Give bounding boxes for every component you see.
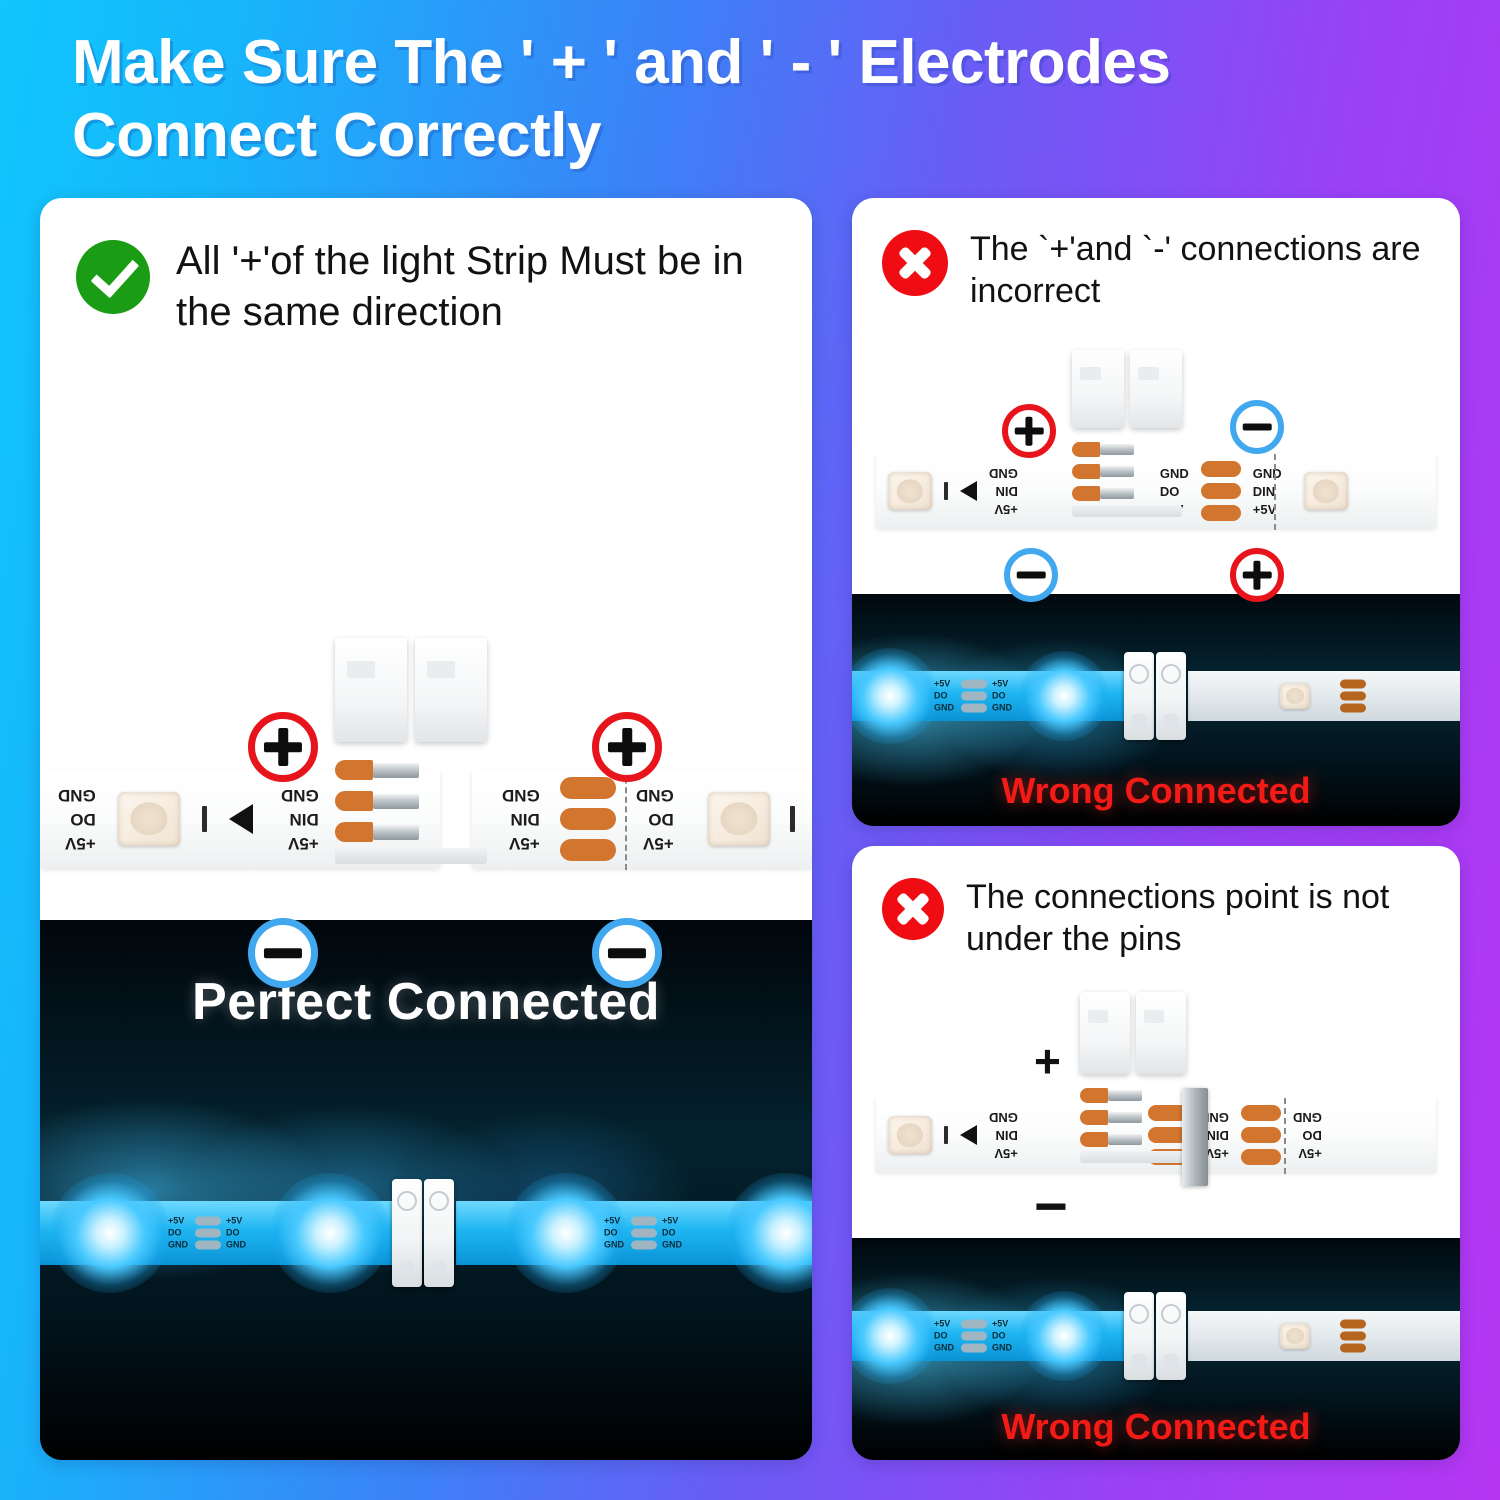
contact-row bbox=[335, 760, 487, 780]
plus-icon bbox=[1236, 554, 1278, 596]
contact-metal bbox=[1108, 1134, 1142, 1145]
contact-row bbox=[1072, 464, 1182, 479]
connector-contacts bbox=[1072, 442, 1182, 501]
copper-pad bbox=[560, 808, 616, 830]
pin-label: GND bbox=[604, 1241, 626, 1250]
pin-label: +5V bbox=[992, 1319, 1014, 1328]
wrong-polarity-heading: The `+'and `-' connections are incorrect bbox=[970, 228, 1438, 312]
alignment-tick bbox=[625, 768, 627, 870]
pin-label: +5V bbox=[989, 1147, 1018, 1160]
strip-segment-right: +5V DIN GND +5V DO GND bbox=[472, 770, 812, 868]
connector-base bbox=[335, 848, 487, 864]
x-glyph bbox=[893, 889, 933, 929]
connector-clip[interactable] bbox=[392, 1179, 422, 1287]
pin-label: DO bbox=[992, 692, 1014, 701]
connector-clip[interactable] bbox=[415, 638, 487, 742]
pin-label: +5V bbox=[934, 1319, 956, 1328]
connector-contacts bbox=[335, 760, 487, 842]
pin-label: +5V bbox=[1293, 1147, 1322, 1160]
pin-label: GND bbox=[226, 1241, 248, 1250]
led-chip bbox=[118, 792, 180, 846]
contact-row bbox=[1080, 1110, 1188, 1125]
photo-led-strip: +5V+5V DODO GNDGND +5V+5V DODO GNDGND bbox=[852, 1311, 1460, 1361]
strip-left-labels: +5V DIN GND bbox=[989, 1111, 1018, 1160]
misaligned-contact-bar bbox=[1182, 1088, 1208, 1186]
copper-pads bbox=[1201, 461, 1241, 521]
plus-icon bbox=[255, 719, 311, 775]
photo-connector-clip-pair[interactable] bbox=[392, 1179, 456, 1287]
pad bbox=[631, 1241, 657, 1250]
contact-pad bbox=[335, 791, 373, 811]
connector-contacts bbox=[1080, 1088, 1188, 1147]
polarity-marker-minus bbox=[1230, 400, 1284, 454]
strip-right-outer-labels: GND DIN +5V bbox=[1253, 467, 1282, 516]
strip-left-labels: +5V DIN GND bbox=[989, 467, 1018, 516]
pin-label: GND bbox=[992, 704, 1014, 713]
pin-label: GND bbox=[168, 1241, 190, 1250]
contact-row bbox=[1080, 1088, 1188, 1103]
alignment-tick bbox=[1284, 1098, 1286, 1174]
pin-label: GND bbox=[992, 1343, 1014, 1352]
polarity-marker-minus: − bbox=[1034, 1178, 1068, 1236]
strip-right-outer-labels: +5V DO GND bbox=[636, 787, 674, 852]
photo-pin-labels: +5V+5V DODO GNDGND bbox=[1340, 1319, 1366, 1352]
strip-connector bbox=[1072, 350, 1182, 517]
pin-label: GND bbox=[1253, 467, 1282, 480]
wrong-polarity-header: The `+'and `-' connections are incorrect bbox=[852, 198, 1460, 312]
pad bbox=[631, 1229, 657, 1238]
connector-clip[interactable] bbox=[1156, 652, 1186, 740]
strip-lit-segment: +5V+5V DODO GNDGND bbox=[852, 671, 1124, 721]
pin-label: DO bbox=[604, 1229, 626, 1238]
pin-label: DO bbox=[168, 1229, 190, 1238]
connector-clip[interactable] bbox=[1136, 992, 1186, 1074]
contact-pad bbox=[1080, 1110, 1108, 1125]
wrong-connected-label: Wrong Connected bbox=[852, 1406, 1460, 1448]
page-title-line-2: Connect Correctly bbox=[72, 99, 1432, 172]
strip-unlit-segment: +5V+5V DODO GNDGND bbox=[1188, 671, 1460, 721]
polarity-marker-plus bbox=[248, 712, 318, 782]
strip-lit-segment: +5V+5V DODO GNDGND bbox=[852, 1311, 1124, 1361]
pin-label: +5V bbox=[281, 835, 319, 852]
pin-label: GND bbox=[1293, 1111, 1322, 1124]
wrong-connected-label: Wrong Connected bbox=[852, 770, 1460, 812]
led-chip bbox=[1280, 683, 1310, 709]
polarity-marker-minus bbox=[592, 918, 662, 988]
pin-label: DIN bbox=[281, 811, 319, 828]
direction-arrow-icon bbox=[960, 481, 977, 501]
contact-metal bbox=[1108, 1112, 1142, 1123]
wrong-pins-diagram: +5V DIN GND +5V DIN GND +5V bbox=[852, 1002, 1460, 1238]
copper-pad bbox=[1201, 461, 1241, 477]
photo-connector-clip-pair[interactable] bbox=[1124, 652, 1188, 740]
pad bbox=[195, 1217, 221, 1226]
strip-lit-segment: +5V+5V DODO GNDGND bbox=[456, 1201, 812, 1265]
pad bbox=[195, 1229, 221, 1238]
polarity-marker-minus bbox=[1004, 548, 1058, 602]
connector-clip[interactable] bbox=[424, 1179, 454, 1287]
strip-unlit-segment: +5V+5V DODO GNDGND bbox=[1188, 1311, 1460, 1361]
photo-pin-labels: +5V+5V DODO GNDGND bbox=[934, 680, 1014, 713]
copper-pad bbox=[1201, 505, 1241, 521]
strip-left-outer-labels: +5V DO GND bbox=[58, 787, 96, 852]
contact-row bbox=[1072, 442, 1182, 457]
copper-pads bbox=[560, 777, 616, 861]
red-x-icon bbox=[882, 878, 944, 940]
minus-icon bbox=[255, 925, 311, 981]
pin-label: DO bbox=[992, 1331, 1014, 1340]
page-title-line-1: Make Sure The ' + ' and ' - ' Electrodes bbox=[72, 26, 1432, 99]
pin-label: +5V bbox=[1253, 503, 1282, 516]
photo-led-strip: +5V+5V DODO GNDGND +5V+5V DODO GNDGND bbox=[852, 671, 1460, 721]
panel-wrong-polarity: The `+'and `-' connections are incorrect… bbox=[852, 198, 1460, 826]
connector-clip[interactable] bbox=[1080, 992, 1130, 1074]
contact-row bbox=[1072, 486, 1182, 501]
pad bbox=[195, 1241, 221, 1250]
pin-label: DO bbox=[58, 811, 96, 828]
direction-arrow-icon bbox=[960, 1125, 977, 1145]
copper-pad bbox=[560, 777, 616, 799]
connector-clip-pair bbox=[335, 638, 487, 742]
pad bbox=[1340, 680, 1366, 689]
pad bbox=[1340, 704, 1366, 713]
panel-wrong-pin-placement: The connections point is not under the p… bbox=[852, 846, 1460, 1460]
contact-pad bbox=[1072, 442, 1100, 457]
pad bbox=[631, 1217, 657, 1226]
pin-label: DIN bbox=[502, 811, 540, 828]
pad bbox=[961, 704, 987, 713]
strip-right-inner-labels: +5V DIN GND bbox=[502, 787, 540, 852]
copper-pad bbox=[1241, 1149, 1281, 1165]
wrong-polarity-diagram: +5V DIN GND GND DO +5V GND DIN +5V bbox=[852, 358, 1460, 594]
wrong-pins-photo-area: Wrong Connected +5V+5V DODO GNDGND +5V+5… bbox=[852, 1238, 1460, 1460]
pad bbox=[1340, 1331, 1366, 1340]
strip-right-outer-labels: +5V DO GND bbox=[1293, 1111, 1322, 1160]
plus-icon bbox=[1008, 410, 1050, 452]
contact-row bbox=[1080, 1132, 1188, 1147]
contact-metal bbox=[373, 825, 419, 840]
wrong-pins-header: The connections point is not under the p… bbox=[852, 846, 1460, 960]
pin-label: GND bbox=[58, 787, 96, 804]
pin-label: GND bbox=[662, 1241, 684, 1250]
connector-clip[interactable] bbox=[1072, 350, 1124, 428]
connector-base bbox=[1072, 505, 1182, 517]
pad bbox=[961, 1343, 987, 1352]
led-chip bbox=[1280, 1323, 1310, 1349]
pin-label: GND bbox=[636, 787, 674, 804]
copper-pads bbox=[1241, 1105, 1281, 1165]
contact-metal bbox=[1100, 444, 1134, 455]
pin-label: +5V bbox=[989, 503, 1018, 516]
led-polarity-tick bbox=[944, 1126, 948, 1144]
pin-label: DO bbox=[934, 692, 956, 701]
pin-label: DIN bbox=[989, 1129, 1018, 1142]
pin-label: GND bbox=[934, 1343, 956, 1352]
photo-led-strip: +5V+5V DODO GNDGND +5V+5V DODO GNDGND bbox=[40, 1201, 812, 1265]
photo-connector-clip-pair[interactable] bbox=[1124, 1292, 1188, 1380]
pad bbox=[961, 680, 987, 689]
pin-label: DO bbox=[934, 1331, 956, 1340]
polarity-marker-plus: + bbox=[1034, 1038, 1061, 1084]
copper-pad bbox=[560, 839, 616, 861]
correct-panel-heading: All '+'of the light Strip Must be in the… bbox=[176, 236, 782, 338]
pin-label: +5V bbox=[502, 835, 540, 852]
pin-label: DO bbox=[636, 811, 674, 828]
led-chip bbox=[1304, 472, 1348, 510]
photo-pin-labels: +5V+5V DODO GNDGND bbox=[168, 1217, 248, 1250]
strip-lit-segment: +5V+5V DODO GNDGND bbox=[40, 1201, 392, 1265]
contact-pad bbox=[335, 822, 373, 842]
contact-pad bbox=[1072, 486, 1100, 501]
alignment-tick bbox=[1274, 454, 1276, 530]
contact-pad bbox=[1080, 1132, 1108, 1147]
pad bbox=[1340, 1343, 1366, 1352]
copper-pad bbox=[1241, 1127, 1281, 1143]
pin-label: +5V bbox=[168, 1217, 190, 1226]
contact-metal bbox=[373, 763, 419, 778]
direction-arrow-icon bbox=[229, 804, 253, 834]
x-glyph bbox=[895, 243, 935, 283]
minus-icon bbox=[599, 925, 655, 981]
perfect-connected-label: Perfect Connected bbox=[40, 972, 812, 1032]
pin-label: GND bbox=[934, 704, 956, 713]
led-polarity-tick bbox=[790, 806, 795, 832]
pin-label: +5V bbox=[636, 835, 674, 852]
led-chip bbox=[708, 792, 770, 846]
minus-icon bbox=[1236, 406, 1278, 448]
pin-label: +5V bbox=[662, 1217, 684, 1226]
polarity-marker-plus bbox=[592, 712, 662, 782]
pin-label: DIN bbox=[989, 485, 1018, 498]
pin-label: +5V bbox=[604, 1217, 626, 1226]
strip-connector bbox=[335, 638, 487, 864]
copper-pad bbox=[1241, 1105, 1281, 1121]
contact-metal bbox=[1100, 488, 1134, 499]
correct-panel-header: All '+'of the light Strip Must be in the… bbox=[40, 198, 812, 338]
contact-pad bbox=[1072, 464, 1100, 479]
connector-clip-pair bbox=[1080, 992, 1188, 1074]
page-title: Make Sure The ' + ' and ' - ' Electrodes… bbox=[72, 26, 1432, 172]
plus-icon bbox=[599, 719, 655, 775]
pin-label: GND bbox=[502, 787, 540, 804]
connector-base bbox=[1080, 1151, 1188, 1163]
connector-clip[interactable] bbox=[335, 638, 407, 742]
green-check-icon bbox=[76, 240, 150, 314]
wrong-polarity-photo-area: Wrong Connected +5V+5V DODO GNDGND +5V+5… bbox=[852, 594, 1460, 826]
connector-clip[interactable] bbox=[1156, 1292, 1186, 1380]
contact-metal bbox=[1100, 466, 1134, 477]
pin-label: +5V bbox=[226, 1217, 248, 1226]
led-chip bbox=[888, 1116, 932, 1154]
pin-label: DIN bbox=[1253, 485, 1282, 498]
contact-row bbox=[335, 791, 487, 811]
led-polarity-tick bbox=[202, 806, 207, 832]
strip-left-inner-labels: +5V DIN GND bbox=[281, 787, 319, 852]
contact-pad bbox=[1080, 1088, 1108, 1103]
contact-metal bbox=[1108, 1090, 1142, 1101]
pad bbox=[961, 692, 987, 701]
pad bbox=[961, 1319, 987, 1328]
polarity-marker-minus bbox=[248, 918, 318, 988]
connector-clip[interactable] bbox=[1124, 1292, 1154, 1380]
contact-metal bbox=[373, 794, 419, 809]
pin-label: +5V bbox=[992, 680, 1014, 689]
connector-clip[interactable] bbox=[1130, 350, 1182, 428]
pin-label: GND bbox=[281, 787, 319, 804]
pin-label: DO bbox=[226, 1229, 248, 1238]
wrong-pins-heading: The connections point is not under the p… bbox=[966, 876, 1436, 960]
red-x-icon bbox=[882, 230, 948, 296]
pin-label: DO bbox=[1293, 1129, 1322, 1142]
photo-pin-labels: +5V+5V DODO GNDGND bbox=[604, 1217, 684, 1250]
photo-pin-labels: +5V+5V DODO GNDGND bbox=[1340, 680, 1366, 713]
pad bbox=[1340, 692, 1366, 701]
correct-diagram: +5V DO GND +5V DIN GND +5V DIN GND bbox=[40, 618, 812, 918]
led-chip bbox=[888, 472, 932, 510]
minus-icon bbox=[1010, 554, 1052, 596]
polarity-marker-plus bbox=[1002, 404, 1056, 458]
pad bbox=[961, 1331, 987, 1340]
contact-pad bbox=[335, 760, 373, 780]
photo-pin-labels: +5V+5V DODO GNDGND bbox=[934, 1319, 1014, 1352]
led-polarity-tick bbox=[944, 482, 948, 500]
panel-correct-connection: All '+'of the light Strip Must be in the… bbox=[40, 198, 812, 1460]
polarity-marker-plus bbox=[1230, 548, 1284, 602]
connector-clip-pair bbox=[1072, 350, 1182, 428]
pin-label: DO bbox=[662, 1229, 684, 1238]
contact-row bbox=[335, 822, 487, 842]
copper-pad bbox=[1201, 483, 1241, 499]
pin-label: GND bbox=[989, 467, 1018, 480]
pin-label: GND bbox=[989, 1111, 1018, 1124]
strip-connector-misaligned bbox=[1080, 992, 1188, 1163]
correct-photo-area: Perfect Connected +5V+5V DODO GNDGND + bbox=[40, 920, 812, 1460]
pad bbox=[1340, 1319, 1366, 1328]
pin-label: +5V bbox=[934, 680, 956, 689]
pin-label: +5V bbox=[58, 835, 96, 852]
connector-clip[interactable] bbox=[1124, 652, 1154, 740]
